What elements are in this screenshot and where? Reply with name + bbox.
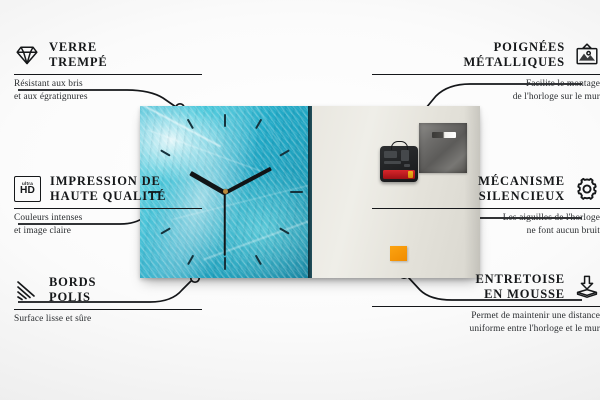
- title-underline: [14, 208, 202, 210]
- feature-verre-trempe: VERRETREMPÉ Résistant aux briset aux égr…: [14, 40, 246, 103]
- feature-title: MÉCANISMESILENCIEUX: [478, 174, 565, 205]
- foam-spacer: [390, 246, 407, 261]
- gear-icon: [574, 176, 600, 202]
- title-underline: [372, 208, 600, 210]
- diamond-icon: [14, 42, 40, 68]
- feature-description: Les aiguilles de l'horlogene font aucun …: [348, 212, 600, 237]
- feature-impression-haute-qualite: ultra HD IMPRESSION DEHAUTE QUALITÉ Coul…: [14, 174, 246, 237]
- foam-spacer-arrow-icon: [574, 274, 600, 300]
- feature-description: Surface lisse et sûre: [14, 313, 246, 325]
- hanger-slot: [432, 132, 456, 138]
- feature-description: Permet de maintenir une distanceuniforme…: [348, 310, 600, 335]
- feature-description: Facilite le montagede l'horloge sur le m…: [348, 78, 600, 103]
- feature-title: BORDSPOLIS: [49, 275, 96, 306]
- polished-edges-icon: [14, 277, 40, 303]
- metal-hanger-plate: [419, 123, 467, 173]
- badge-main-label: HD: [20, 186, 35, 197]
- feature-description: Couleurs intenseset image claire: [14, 212, 246, 237]
- title-underline: [372, 306, 600, 308]
- feature-title: ENTRETOISEEN MOUSSE: [475, 272, 565, 303]
- feature-poignees-metalliques: POIGNÉESMÉTALLIQUES Facilite le montaged…: [348, 40, 600, 103]
- feature-entretoise-en-mousse: ENTRETOISEEN MOUSSE Permet de maintenir …: [348, 272, 600, 335]
- feature-title: VERRETREMPÉ: [49, 40, 108, 71]
- movement-bail: [391, 141, 408, 150]
- hanging-frame-icon: [574, 42, 600, 68]
- title-underline: [372, 74, 600, 76]
- title-underline: [14, 309, 202, 311]
- title-underline: [14, 74, 202, 76]
- feature-description: Résistant aux briset aux égratignures: [14, 78, 246, 103]
- feature-bords-polis: BORDSPOLIS Surface lisse et sûre: [14, 275, 246, 326]
- ultra-hd-badge-icon: ultra HD: [14, 176, 41, 202]
- feature-title: POIGNÉESMÉTALLIQUES: [463, 40, 565, 71]
- infographic-stage: VERRETREMPÉ Résistant aux briset aux égr…: [0, 0, 600, 400]
- feature-mecanisme-silencieux: MÉCANISMESILENCIEUX Les aiguilles de l'h…: [348, 174, 600, 237]
- feature-title: IMPRESSION DEHAUTE QUALITÉ: [50, 174, 166, 205]
